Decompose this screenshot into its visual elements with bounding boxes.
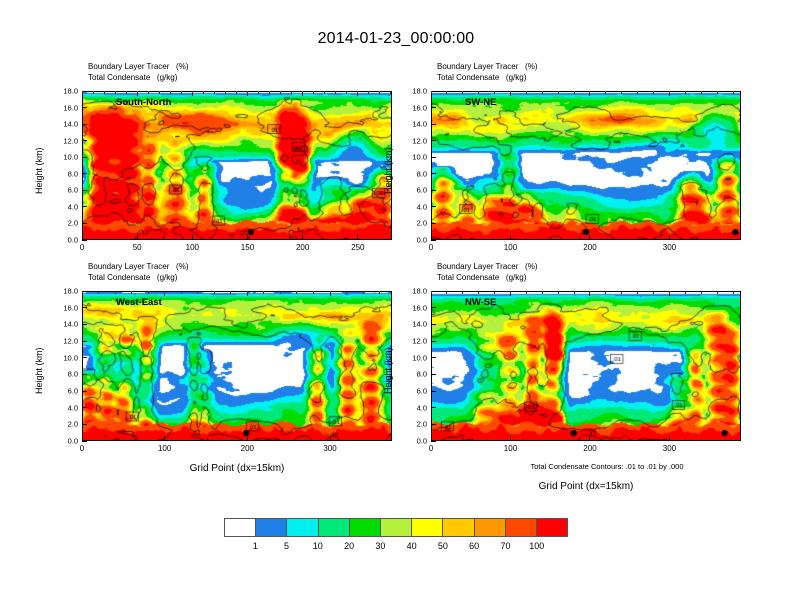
x-minor-tick [115, 91, 116, 94]
y-tick [82, 374, 87, 375]
x-tick [330, 436, 331, 441]
y-tick [82, 341, 87, 342]
panel-label-nw-se: NW-SE [465, 297, 496, 308]
y-tick [82, 124, 87, 125]
panel-header-tracer: Boundary Layer Tracer (%) [437, 62, 537, 73]
x-tick [589, 436, 590, 441]
y-tick [431, 190, 436, 191]
plot-area-sw-ne[interactable] [431, 91, 741, 240]
colorbar: 1510203040506070100 [224, 518, 568, 559]
x-minor-tick [230, 291, 231, 294]
x-minor-tick [637, 291, 638, 294]
x-minor-tick [701, 91, 702, 94]
y-tick [431, 157, 436, 158]
x-tick-label: 0 [429, 444, 433, 453]
x-minor-tick [621, 291, 622, 294]
x-axis-title: Grid Point (dx=15km) [190, 463, 285, 474]
x-tick-label: 0 [80, 243, 84, 252]
x-minor-tick [462, 91, 463, 94]
colorbar-tick-label: 60 [469, 541, 479, 551]
y-tick [431, 407, 436, 408]
y-tick [82, 223, 87, 224]
x-minor-tick [574, 91, 575, 94]
x-minor-tick [446, 291, 447, 294]
x-minor-tick [494, 91, 495, 94]
y-tick-label: 8.0 [50, 370, 78, 379]
x-tick-label: 100 [504, 243, 517, 252]
x-minor-tick [478, 91, 479, 94]
x-minor-tick [258, 91, 259, 94]
x-minor-tick [357, 91, 358, 94]
x-minor-tick [346, 291, 347, 294]
y-tick-label: 10.0 [50, 353, 78, 362]
y-tick-label: 10.0 [399, 353, 427, 362]
x-minor-tick [733, 91, 734, 94]
panel-header-tracer: Boundary Layer Tracer (%) [88, 62, 188, 73]
y-tick-label: 10.0 [50, 153, 78, 162]
x-minor-tick [526, 291, 527, 294]
y-tick [431, 291, 436, 292]
x-tick-label: 200 [583, 444, 596, 453]
x-minor-tick [542, 291, 543, 294]
y-tick [82, 407, 87, 408]
x-minor-tick [653, 91, 654, 94]
x-tick [589, 235, 590, 240]
x-minor-tick [431, 291, 432, 294]
y-tick-label: 2.0 [50, 420, 78, 429]
y-tick-label: 10.0 [399, 153, 427, 162]
x-minor-tick [192, 91, 193, 94]
panel-header-tracer: Boundary Layer Tracer (%) [437, 262, 537, 273]
y-tick-label: 18.0 [399, 287, 427, 296]
panel-header-condensate: Total Condensate (g/kg) [88, 273, 188, 284]
y-tick [82, 424, 87, 425]
x-minor-tick [685, 291, 686, 294]
y-tick-label: 18.0 [50, 287, 78, 296]
y-tick-label: 0.0 [399, 437, 427, 446]
panel-header-tracer: Boundary Layer Tracer (%) [88, 262, 188, 273]
x-tick [82, 436, 83, 441]
y-axis-title: Height (km) [34, 147, 44, 194]
colorbar-labels: 1510203040506070100 [224, 518, 568, 559]
y-tick [431, 424, 436, 425]
x-minor-tick [82, 91, 83, 94]
y-tick-label: 4.0 [50, 202, 78, 211]
y-axis-title: Height (km) [383, 147, 393, 194]
x-tick [82, 235, 83, 240]
x-minor-tick [93, 91, 94, 94]
x-minor-tick [717, 91, 718, 94]
plot-area-nw-se[interactable] [431, 291, 741, 441]
plot-area-west-east[interactable] [82, 291, 392, 441]
y-tick-label: 0.0 [50, 437, 78, 446]
x-axis-title: Grid Point (dx=15km) [539, 481, 634, 492]
y-tick [82, 157, 87, 158]
y-tick [431, 441, 436, 442]
x-minor-tick [280, 291, 281, 294]
x-minor-tick [462, 291, 463, 294]
x-minor-tick [478, 291, 479, 294]
y-tick [82, 291, 87, 292]
x-tick-label: 200 [296, 243, 309, 252]
x-tick-label: 300 [663, 243, 676, 252]
panel-label-south-north: South-North [116, 97, 171, 108]
y-tick-label: 18.0 [50, 87, 78, 96]
x-minor-tick [330, 291, 331, 294]
y-tick [82, 391, 87, 392]
colorbar-tick-label: 30 [375, 541, 385, 551]
x-minor-tick [280, 91, 281, 94]
x-minor-tick [558, 291, 559, 294]
x-minor-tick [542, 91, 543, 94]
x-minor-tick [390, 91, 391, 94]
x-tick-label: 300 [663, 444, 676, 453]
x-tick-label: 100 [504, 444, 517, 453]
y-tick-label: 16.0 [50, 103, 78, 112]
y-tick [82, 441, 87, 442]
y-tick [82, 140, 87, 141]
y-tick [431, 140, 436, 141]
x-minor-tick [379, 91, 380, 94]
contour-plot-south-north [83, 92, 391, 239]
y-tick [82, 324, 87, 325]
y-tick-label: 8.0 [50, 169, 78, 178]
y-tick-label: 4.0 [399, 202, 427, 211]
y-tick-label: 8.0 [399, 370, 427, 379]
x-minor-tick [669, 91, 670, 94]
page-title: 2014-01-23_00:00:00 [0, 30, 792, 48]
y-tick [82, 190, 87, 191]
y-tick-label: 4.0 [50, 403, 78, 412]
y-tick [82, 173, 87, 174]
x-tick [510, 436, 511, 441]
x-minor-tick [302, 91, 303, 94]
x-minor-tick [379, 291, 380, 294]
y-tick [431, 357, 436, 358]
colorbar-tick-label: 20 [344, 541, 354, 551]
x-minor-tick [558, 91, 559, 94]
x-minor-tick [589, 291, 590, 294]
x-minor-tick [203, 91, 204, 94]
y-tick-label: 12.0 [399, 136, 427, 145]
x-tick [192, 235, 193, 240]
x-minor-tick [685, 91, 686, 94]
panel-header-sw-ne: Boundary Layer Tracer (%)Total Condensat… [437, 62, 537, 83]
panel-header-west-east: Boundary Layer Tracer (%)Total Condensat… [88, 262, 188, 283]
y-tick [82, 107, 87, 108]
plot-area-south-north[interactable] [82, 91, 392, 240]
y-tick [431, 240, 436, 241]
x-tick-label: 200 [583, 243, 596, 252]
x-minor-tick [137, 91, 138, 94]
x-tick [164, 436, 165, 441]
y-tick [82, 206, 87, 207]
x-minor-tick [717, 291, 718, 294]
y-tick [431, 107, 436, 108]
y-tick-label: 18.0 [399, 87, 427, 96]
panel-label-west-east: West-East [116, 297, 162, 308]
colorbar-tick-label: 10 [313, 541, 323, 551]
y-tick-label: 16.0 [399, 103, 427, 112]
x-minor-tick [225, 91, 226, 94]
x-minor-tick [131, 291, 132, 294]
colorbar-tick-label: 1 [253, 541, 258, 551]
x-tick [510, 235, 511, 240]
y-tick-label: 0.0 [50, 236, 78, 245]
x-minor-tick [313, 91, 314, 94]
y-tick-label: 16.0 [50, 303, 78, 312]
x-minor-tick [589, 91, 590, 94]
x-minor-tick [346, 91, 347, 94]
y-tick-label: 2.0 [399, 219, 427, 228]
y-tick-label: 6.0 [399, 387, 427, 396]
contour-plot-nw-se [432, 292, 740, 440]
y-tick-label: 2.0 [50, 219, 78, 228]
x-tick-label: 100 [186, 243, 199, 252]
y-tick-label: 6.0 [50, 387, 78, 396]
x-minor-tick [181, 291, 182, 294]
x-tick [247, 235, 248, 240]
x-minor-tick [368, 91, 369, 94]
y-tick [431, 324, 436, 325]
colorbar-tick-label: 100 [529, 541, 544, 551]
y-tick [431, 341, 436, 342]
x-minor-tick [104, 91, 105, 94]
x-minor-tick [669, 291, 670, 294]
x-minor-tick [363, 291, 364, 294]
y-tick [431, 223, 436, 224]
x-minor-tick [510, 291, 511, 294]
x-tick [357, 235, 358, 240]
colorbar-tick-label: 40 [407, 541, 417, 551]
panel-header-condensate: Total Condensate (g/kg) [437, 73, 537, 84]
y-tick [82, 307, 87, 308]
x-minor-tick [324, 91, 325, 94]
y-tick-label: 12.0 [399, 337, 427, 346]
y-tick [82, 91, 87, 92]
contour-plot-sw-ne [432, 92, 740, 239]
contour-note: Total Condensate Contours: .01 to .01 by… [530, 462, 683, 471]
panel-header-condensate: Total Condensate (g/kg) [437, 273, 537, 284]
y-tick-label: 14.0 [50, 120, 78, 129]
y-tick [431, 124, 436, 125]
y-tick-label: 14.0 [399, 320, 427, 329]
y-tick [431, 206, 436, 207]
x-tick-label: 50 [133, 243, 142, 252]
y-tick-label: 2.0 [399, 420, 427, 429]
x-minor-tick [621, 91, 622, 94]
x-tick-label: 150 [241, 243, 254, 252]
y-tick-label: 6.0 [50, 186, 78, 195]
x-tick-label: 0 [429, 243, 433, 252]
x-tick-label: 100 [158, 444, 171, 453]
y-tick [431, 307, 436, 308]
x-minor-tick [446, 91, 447, 94]
y-tick [431, 391, 436, 392]
panel-header-nw-se: Boundary Layer Tracer (%)Total Condensat… [437, 262, 537, 283]
x-minor-tick [181, 91, 182, 94]
x-minor-tick [605, 91, 606, 94]
x-minor-tick [148, 91, 149, 94]
x-minor-tick [159, 91, 160, 94]
x-tick-label: 200 [241, 444, 254, 453]
x-minor-tick [98, 291, 99, 294]
x-minor-tick [170, 91, 171, 94]
x-tick [431, 235, 432, 240]
x-minor-tick [605, 291, 606, 294]
x-minor-tick [494, 291, 495, 294]
x-minor-tick [653, 291, 654, 294]
contour-plot-west-east [83, 292, 391, 440]
x-minor-tick [701, 291, 702, 294]
x-tick [669, 235, 670, 240]
x-minor-tick [236, 91, 237, 94]
figure-root: 2014-01-23_00:00:00 Boundary Layer Trace… [0, 0, 792, 612]
x-minor-tick [296, 291, 297, 294]
x-minor-tick [148, 291, 149, 294]
x-minor-tick [313, 291, 314, 294]
x-minor-tick [115, 291, 116, 294]
colorbar-tick-label: 5 [284, 541, 289, 551]
x-minor-tick [214, 291, 215, 294]
panel-header-condensate: Total Condensate (g/kg) [88, 73, 188, 84]
x-tick-label: 250 [351, 243, 364, 252]
colorbar-tick-label: 70 [500, 541, 510, 551]
x-minor-tick [574, 291, 575, 294]
x-minor-tick [164, 291, 165, 294]
y-tick-label: 8.0 [399, 169, 427, 178]
x-minor-tick [733, 291, 734, 294]
y-tick [431, 173, 436, 174]
y-tick [431, 91, 436, 92]
x-tick [247, 436, 248, 441]
x-minor-tick [82, 291, 83, 294]
panel-label-sw-ne: SW-NE [465, 97, 496, 108]
x-minor-tick [269, 91, 270, 94]
y-axis-title: Height (km) [383, 347, 393, 394]
y-tick [431, 374, 436, 375]
y-tick-label: 14.0 [399, 120, 427, 129]
x-minor-tick [126, 91, 127, 94]
x-minor-tick [335, 91, 336, 94]
y-tick-label: 0.0 [399, 236, 427, 245]
y-tick-label: 4.0 [399, 403, 427, 412]
y-axis-title: Height (km) [34, 347, 44, 394]
x-tick [669, 436, 670, 441]
y-tick [82, 357, 87, 358]
y-tick-label: 12.0 [50, 136, 78, 145]
x-minor-tick [247, 91, 248, 94]
x-tick-label: 0 [80, 444, 84, 453]
y-tick-label: 6.0 [399, 186, 427, 195]
y-tick-label: 16.0 [399, 303, 427, 312]
y-tick-label: 14.0 [50, 320, 78, 329]
x-minor-tick [214, 91, 215, 94]
x-minor-tick [526, 91, 527, 94]
x-tick-label: 300 [323, 444, 336, 453]
x-minor-tick [247, 291, 248, 294]
x-minor-tick [431, 91, 432, 94]
colorbar-tick-label: 50 [438, 541, 448, 551]
x-minor-tick [197, 291, 198, 294]
x-minor-tick [291, 91, 292, 94]
y-tick [82, 240, 87, 241]
panel-header-south-north: Boundary Layer Tracer (%)Total Condensat… [88, 62, 188, 83]
x-tick [431, 436, 432, 441]
x-minor-tick [510, 91, 511, 94]
y-tick-label: 12.0 [50, 337, 78, 346]
x-tick [137, 235, 138, 240]
x-minor-tick [263, 291, 264, 294]
x-minor-tick [637, 91, 638, 94]
x-tick [302, 235, 303, 240]
